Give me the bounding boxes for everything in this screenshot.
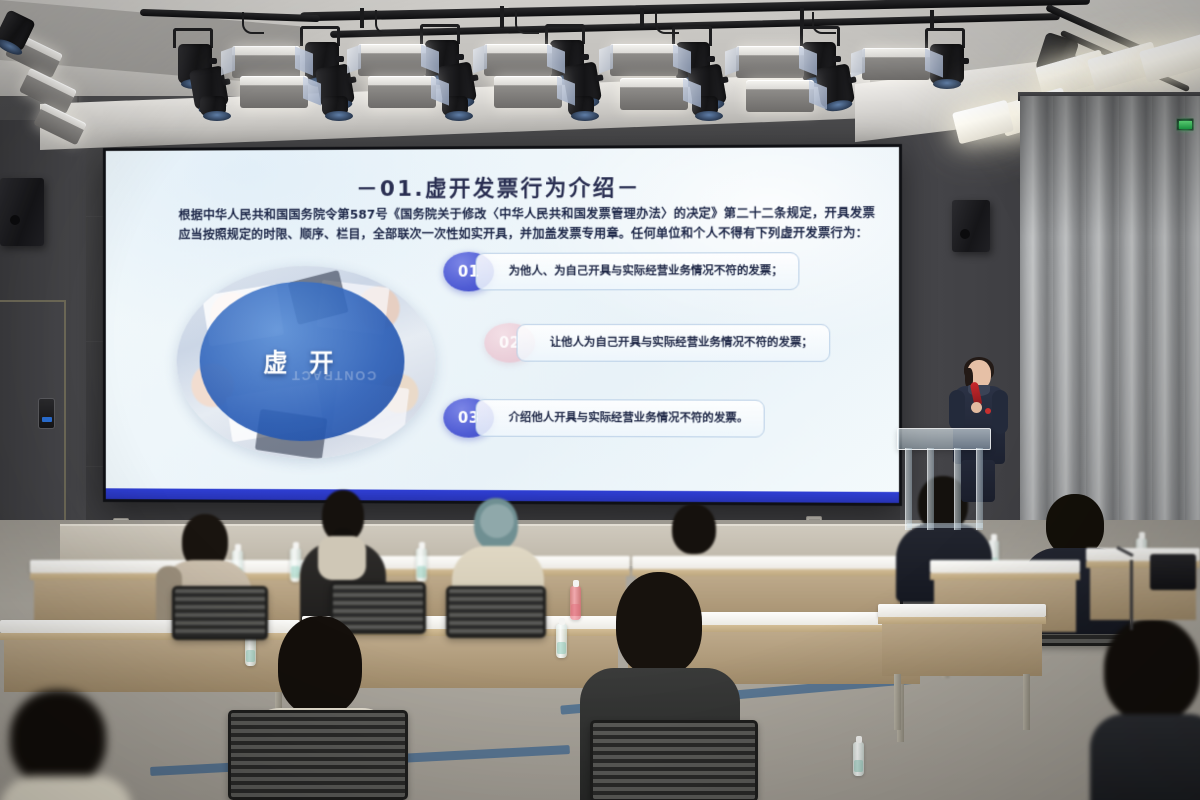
spotlight-par-can — [200, 96, 226, 116]
audience-member-foreground — [0, 690, 130, 800]
presenter-shoulder — [949, 390, 965, 430]
slide-item-text: 介绍他人开具与实际经营业务情况不符的发票。 — [476, 399, 766, 437]
audience-member-foreground — [1090, 618, 1200, 800]
panel-light — [358, 44, 426, 76]
podium-top-panel — [897, 428, 991, 450]
projection-screen: －01.虚开发票行为介绍－ 根据中华人民共和国国务院令第587号《国务院关于修改… — [103, 144, 902, 506]
control-monitor — [1150, 554, 1196, 590]
slide-item-02: 02 让他人为自己开具与实际经营业务情况不符的发票； — [484, 323, 839, 363]
truss-rod — [800, 8, 804, 28]
podium-column — [905, 448, 912, 530]
slide-body-text: 根据中华人民共和国国务院令第587号《国务院关于修改〈中华人民共和国发票管理办法… — [179, 203, 875, 245]
panel-light — [494, 76, 562, 108]
panel-light — [746, 80, 814, 112]
slide-item-01: 01 为他人、为自己开具与实际经营业务情况不符的发票； — [443, 251, 837, 291]
wall-speaker-left — [0, 178, 44, 246]
microphone-stand — [1130, 560, 1133, 630]
slide-item-text: 让他人为自己开具与实际经营业务情况不符的发票； — [517, 324, 830, 362]
slide-item-03: 03 介绍他人开具与实际经营业务情况不符的发票。 — [443, 398, 837, 439]
slide-illustration-photo: 虚 开 CONTRACT — [177, 266, 436, 459]
presenter-shoulder — [992, 390, 1008, 434]
spotlight-par-can — [322, 96, 348, 116]
presenter-badge-pin — [985, 408, 991, 414]
chair — [590, 720, 758, 800]
chair — [228, 710, 408, 800]
podium-column — [976, 448, 983, 530]
panel-light — [610, 44, 678, 76]
truss-rod — [640, 8, 644, 28]
presentation-slide: －01.虚开发票行为介绍－ 根据中华人民共和国国务院令第587号《国务院关于修改… — [106, 147, 899, 503]
panel-light — [862, 48, 930, 80]
power-cable — [655, 12, 679, 34]
power-cable — [812, 12, 836, 34]
slide-photo-watermark: CONTRACT — [290, 368, 376, 383]
water-bottle — [416, 548, 427, 582]
panel-light — [620, 78, 688, 110]
panel-light — [736, 46, 804, 78]
desk-right-near — [878, 604, 1046, 682]
podium-column — [954, 448, 961, 530]
truss-rod — [500, 6, 504, 28]
podium-column — [927, 448, 934, 530]
slide-item-text: 为他人、为自己开具与实际经营业务情况不符的发票； — [476, 252, 800, 290]
emergency-exit-sign-icon — [1176, 118, 1194, 131]
acrylic-podium — [901, 428, 987, 528]
water-bottle — [556, 624, 567, 658]
panel-light — [368, 76, 436, 108]
panel-light — [240, 76, 308, 108]
truss-rod — [360, 8, 364, 28]
wall-speaker-right — [952, 200, 990, 252]
power-cable — [515, 10, 539, 34]
chair — [446, 586, 546, 638]
conference-room-photo: －01.虚开发票行为介绍－ 根据中华人民共和国国务院令第587号《国务院关于修改… — [0, 0, 1200, 800]
presenter-hand — [971, 402, 982, 413]
slide-title: －01.虚开发票行为介绍－ — [106, 169, 899, 204]
panel-light — [232, 46, 300, 78]
truss-rod — [930, 10, 934, 30]
podium-base — [907, 523, 983, 528]
power-cable — [242, 12, 264, 34]
access-control-panel[interactable] — [38, 398, 55, 429]
power-cable — [375, 10, 401, 34]
water-bottle — [853, 742, 864, 776]
slide-photo-overlay-circle: 虚 开 — [200, 282, 405, 442]
panel-light — [484, 44, 552, 76]
